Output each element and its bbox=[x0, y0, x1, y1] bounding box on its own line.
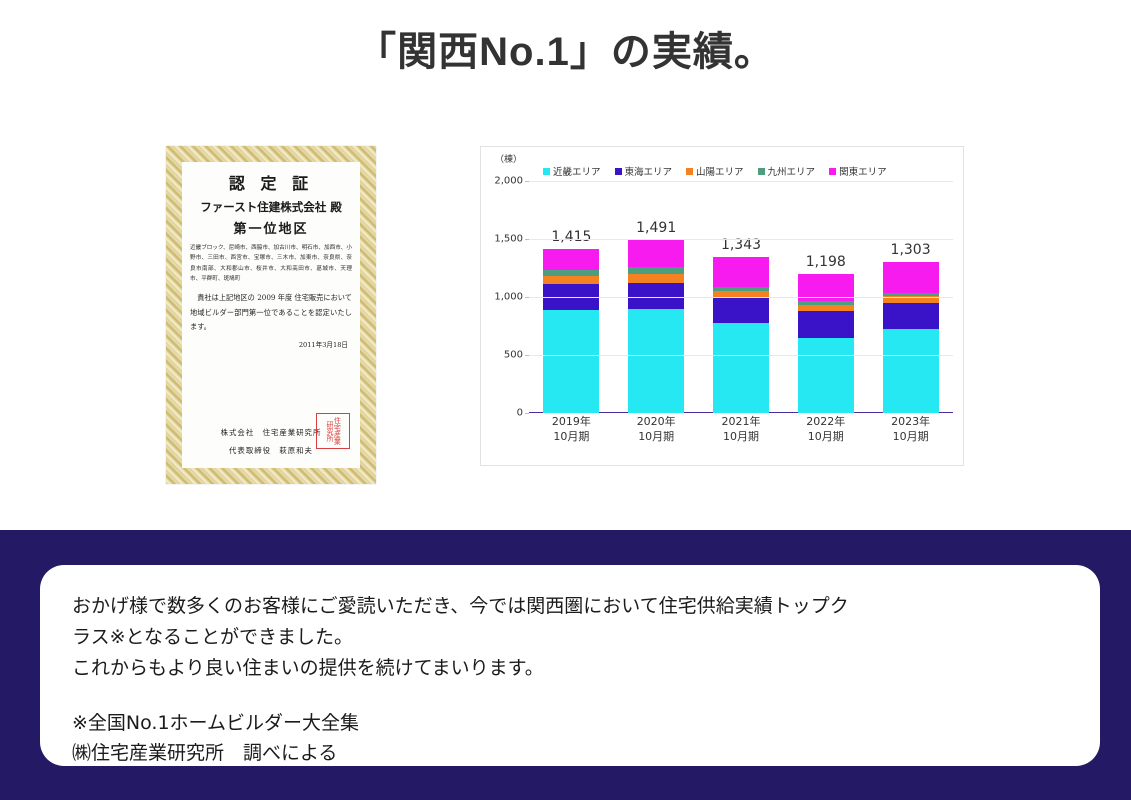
chart-bar-total-label: 1,198 bbox=[806, 254, 846, 270]
chart-bar[interactable] bbox=[798, 274, 854, 413]
chart-bar-segment[interactable] bbox=[713, 323, 769, 413]
chart-plot-area: 1,4151,4911,3431,1981,303 05001,0001,500… bbox=[529, 181, 953, 413]
chart-x-tick-label: 2020年10月期 bbox=[614, 415, 699, 455]
chart-bar-total-label: 1,491 bbox=[636, 220, 676, 236]
chart-x-tick-label-line: 10月期 bbox=[614, 430, 699, 445]
chart-y-tick-label: 1,500 bbox=[494, 234, 523, 245]
note-footnote-text: ※全国No.1ホームビルダー大全集 ㈱住宅産業研究所 調べによる bbox=[72, 709, 1068, 768]
chart-bar-segment[interactable] bbox=[713, 257, 769, 286]
note-footnote-line-2: ㈱住宅産業研究所 調べによる bbox=[72, 739, 1068, 768]
note-card: おかげ様で数多くのお客様にご愛読いただき、今では関西圏において住宅供給実績トップ… bbox=[40, 565, 1100, 766]
chart-y-tick-label: 1,000 bbox=[494, 292, 523, 303]
certificate-rank: 第一位地区 bbox=[190, 218, 352, 237]
legend-swatch-icon bbox=[758, 168, 765, 175]
chart-bar-segment[interactable] bbox=[713, 298, 769, 322]
chart-bar-segment[interactable] bbox=[798, 338, 854, 413]
chart-legend: 近畿エリア東海エリア山陽エリア九州エリア関東エリア bbox=[543, 164, 957, 178]
chart-gridline bbox=[529, 297, 953, 298]
stacked-bar-chart: （棟） 近畿エリア東海エリア山陽エリア九州エリア関東エリア 1,4151,491… bbox=[480, 146, 964, 466]
legend-swatch-icon bbox=[615, 168, 622, 175]
chart-x-tick-label: 2023年10月期 bbox=[868, 415, 953, 455]
chart-bar[interactable] bbox=[713, 257, 769, 413]
chart-bar-segment[interactable] bbox=[883, 262, 939, 293]
chart-bar[interactable] bbox=[883, 262, 939, 413]
chart-legend-item[interactable]: 東海エリア bbox=[615, 164, 673, 178]
chart-bar-segment[interactable] bbox=[883, 329, 939, 413]
chart-x-tick-label-line: 2021年 bbox=[699, 415, 784, 430]
chart-gridline bbox=[529, 181, 953, 182]
chart-bar-segment[interactable] bbox=[883, 303, 939, 330]
chart-bar-segment[interactable] bbox=[543, 249, 599, 270]
chart-x-tick-label-line: 2023年 bbox=[868, 415, 953, 430]
chart-bar-segment[interactable] bbox=[628, 240, 684, 267]
chart-legend-item[interactable]: 九州エリア bbox=[758, 164, 816, 178]
note-main-line-3: これからもより良い住まいの提供を続けてまいります。 bbox=[72, 653, 1068, 684]
chart-legend-item[interactable]: 近畿エリア bbox=[543, 164, 601, 178]
chart-y-tick-label: 0 bbox=[517, 408, 523, 419]
chart-y-tick-mark bbox=[525, 413, 529, 414]
chart-bar[interactable] bbox=[628, 240, 684, 413]
chart-x-tick-label-line: 2019年 bbox=[529, 415, 614, 430]
chart-bar-total-label: 1,303 bbox=[891, 242, 931, 258]
chart-x-tick-label-line: 2020年 bbox=[614, 415, 699, 430]
red-seal-stamp-icon: 住宅産業研究所 bbox=[316, 413, 350, 449]
chart-legend-item[interactable]: 関東エリア bbox=[829, 164, 887, 178]
legend-label: 東海エリア bbox=[625, 164, 673, 178]
note-main-text: おかげ様で数多くのお客様にご愛読いただき、今では関西圏において住宅供給実績トップ… bbox=[72, 591, 1068, 683]
legend-label: 関東エリア bbox=[839, 164, 887, 178]
chart-y-tick-mark bbox=[525, 239, 529, 240]
chart-y-tick-label: 2,000 bbox=[494, 176, 523, 187]
chart-y-tick-label: 500 bbox=[504, 350, 523, 361]
chart-x-tick-label-line: 10月期 bbox=[529, 430, 614, 445]
chart-x-tick-label-line: 10月期 bbox=[868, 430, 953, 445]
certificate-signature-block: 株式会社 住宅産業研究所 代表取締役 萩原和夫 住宅産業研究所 bbox=[190, 427, 352, 464]
legend-label: 山陽エリア bbox=[696, 164, 744, 178]
note-footnote-line-1: ※全国No.1ホームビルダー大全集 bbox=[72, 709, 1068, 738]
chart-bar-segment[interactable] bbox=[628, 309, 684, 413]
certificate-content: 認 定 証 ファースト住建株式会社 殿 第一位地区 近畿ブロック、尼崎市、西脇市… bbox=[182, 162, 360, 468]
chart-x-tick-label-line: 10月期 bbox=[783, 430, 868, 445]
chart-gridline bbox=[529, 239, 953, 240]
legend-swatch-icon bbox=[829, 168, 836, 175]
certificate-area-list: 近畿ブロック、尼崎市、西脇市、加古川市、明石市、加西市、小野市、三田市、西宮市、… bbox=[190, 243, 352, 284]
legend-label: 近畿エリア bbox=[553, 164, 601, 178]
chart-x-tick-label: 2021年10月期 bbox=[699, 415, 784, 455]
chart-y-tick-mark bbox=[525, 355, 529, 356]
chart-bar-segment[interactable] bbox=[543, 310, 599, 413]
chart-x-tick-label-line: 10月期 bbox=[699, 430, 784, 445]
note-main-line-1: おかげ様で数多くのお客様にご愛読いただき、今では関西圏において住宅供給実績トップ… bbox=[72, 591, 1068, 622]
note-main-line-2: ラス※となることができました。 bbox=[72, 622, 1068, 653]
certificate-image: 認 定 証 ファースト住建株式会社 殿 第一位地区 近畿ブロック、尼崎市、西脇市… bbox=[166, 146, 376, 484]
chart-bar-segment[interactable] bbox=[798, 311, 854, 338]
certificate-body-text: 貴社は上記地区の 2009 年度 住宅販売において地域ビルダー部門第一位であるこ… bbox=[190, 291, 352, 334]
chart-bar[interactable] bbox=[543, 249, 599, 413]
chart-unit-label: （棟） bbox=[495, 152, 522, 165]
chart-y-tick-mark bbox=[525, 297, 529, 298]
chart-x-axis-labels: 2019年10月期2020年10月期2021年10月期2022年10月期2023… bbox=[529, 415, 953, 455]
legend-label: 九州エリア bbox=[768, 164, 816, 178]
certificate-company: ファースト住建株式会社 殿 bbox=[190, 199, 352, 215]
chart-x-tick-label: 2022年10月期 bbox=[783, 415, 868, 455]
chart-bar-segment[interactable] bbox=[543, 276, 599, 284]
chart-bar-segment[interactable] bbox=[628, 283, 684, 310]
chart-gridline bbox=[529, 355, 953, 356]
certificate-date: 2011年3月18日 bbox=[190, 339, 352, 349]
page-root: 「関西No.1」の実績。 認 定 証 ファースト住建株式会社 殿 第一位地区 近… bbox=[0, 0, 1131, 800]
legend-swatch-icon bbox=[686, 168, 693, 175]
page-title: 「関西No.1」の実績。 bbox=[0, 26, 1131, 78]
chart-bar-segment[interactable] bbox=[628, 274, 684, 283]
legend-swatch-icon bbox=[543, 168, 550, 175]
chart-bar-total-label: 1,415 bbox=[551, 229, 591, 245]
certificate-heading: 認 定 証 bbox=[190, 170, 352, 194]
chart-x-tick-label: 2019年10月期 bbox=[529, 415, 614, 455]
chart-y-tick-mark bbox=[525, 181, 529, 182]
chart-legend-item[interactable]: 山陽エリア bbox=[686, 164, 744, 178]
chart-x-tick-label-line: 2022年 bbox=[783, 415, 868, 430]
